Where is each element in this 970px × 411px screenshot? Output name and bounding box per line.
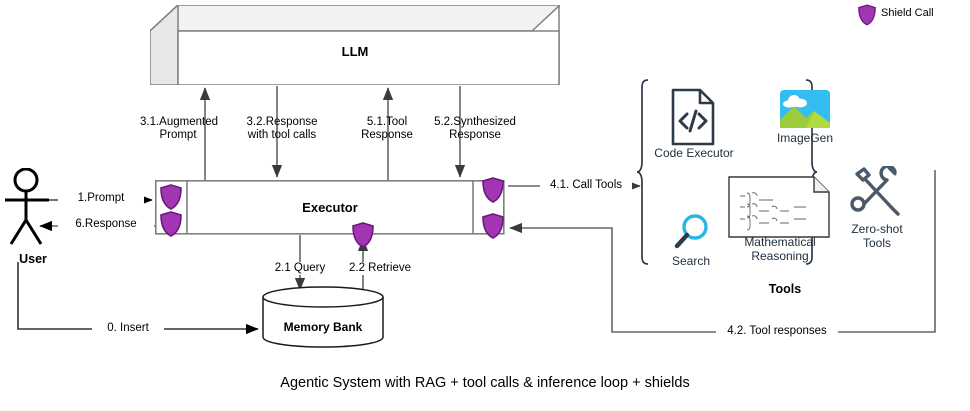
edge-label-3-1: 3.1.Augmented Prompt [140,116,216,142]
tools-left-brace [637,80,648,264]
llm-label: LLM [150,44,560,59]
edge-0-insert-line [18,262,258,329]
formula-document-icon [728,176,830,238]
user-leg-left [11,220,26,244]
code-document-icon [670,88,716,146]
user-leg-right [26,220,41,244]
legend-shield-icon [858,4,876,26]
tool-search-label: Search [650,254,732,268]
tool-code-executor[interactable] [670,88,716,146]
edge-label-0-insert: 0. Insert [92,322,164,335]
user-label: User [2,252,64,266]
tool-math-reasoning-label: Mathematical Reasoning [722,235,838,263]
edge-label-2-2-retrieve: 2.2 Retrieve [337,262,423,275]
tool-zero-shot[interactable] [848,166,904,222]
tool-math-reasoning[interactable] [728,176,830,238]
tool-zero-shot-label: Zero-shot Tools [838,222,916,250]
edge-label-3-2: 3.2.Response with tool calls [232,116,332,142]
legend-label: Shield Call [881,7,934,19]
memory-bank-top [263,287,383,307]
shield-input-prompt-icon [160,184,182,210]
edge-label-4-1-call-tools: 4.1. Call Tools [540,179,632,192]
edge-label-6-response: 6.Response [58,218,154,231]
magnifier-icon [672,212,712,252]
executor-label: Executor [155,200,505,215]
shield-tool-response-icon [482,213,504,239]
shield-output-response-icon [160,211,182,237]
tool-imagegen-label: ImageGen [757,131,853,145]
tools-group-label: Tools [700,282,870,296]
user-head [15,169,37,191]
crossed-tools-icon [848,166,904,222]
tool-search[interactable] [672,212,712,252]
tool-code-executor-label: Code Executor [640,146,748,160]
memory-bank-node[interactable] [262,286,384,348]
edge-label-2-1-query: 2.1 Query [262,262,338,275]
memory-bank-label: Memory Bank [262,320,384,334]
edge-label-5-1: 5.1.Tool Response [348,116,426,142]
edge-label-1-prompt: 1.Prompt [58,192,144,205]
diagram-caption: Agentic System with RAG + tool calls & i… [0,375,970,391]
shield-memory-icon [352,222,374,248]
tool-imagegen[interactable] [780,90,830,128]
shield-tool-call-icon [482,177,504,203]
user-actor[interactable] [5,168,63,246]
edge-label-4-2-tool-responses: 4.2. Tool responses [716,325,838,338]
image-icon [780,90,830,128]
edge-label-5-2: 5.2.Synthesized Response [425,116,525,142]
